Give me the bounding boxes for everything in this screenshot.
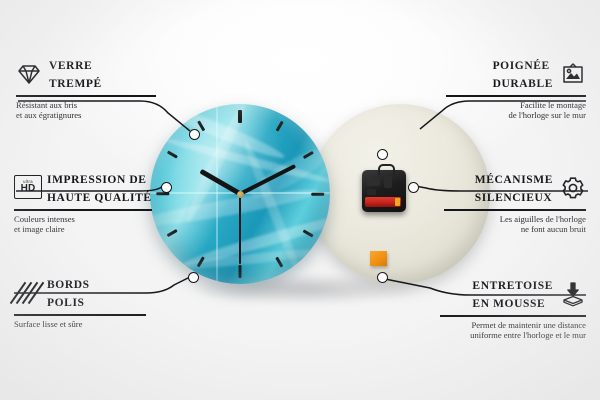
callout-header: VERRE TREMPÉ	[16, 56, 156, 92]
callout-description: Couleurs intenses et image claire	[14, 214, 152, 235]
battery-terminal	[395, 198, 400, 206]
callout-title: BORDS POLIS	[47, 275, 90, 311]
clock-tick	[161, 193, 240, 240]
leader-dot-poignee	[377, 149, 388, 160]
clock-tick	[194, 193, 241, 272]
callout-header: BORDS POLIS	[14, 275, 146, 311]
feather-pattern	[162, 135, 330, 186]
gear-icon	[560, 175, 586, 201]
foam-spacer	[370, 251, 387, 266]
mechanism-detail	[367, 178, 380, 186]
callout-title: MÉCANISME SILENCIEUX	[475, 170, 553, 206]
clock-tick	[239, 104, 242, 194]
callout-verre-trempe: VERRE TREMPÉ Résistant aux bris et aux é…	[16, 56, 156, 121]
callout-title: ENTRETOISE EN MOUSSE	[472, 276, 553, 312]
callout-description: Permet de maintenir une distance uniform…	[440, 320, 586, 341]
callout-description: Résistant aux bris et aux égratignures	[16, 100, 156, 121]
infographic-stage: VERRE TREMPÉ Résistant aux bris et aux é…	[0, 0, 600, 400]
mechanism-hanger-lug	[378, 164, 395, 175]
callout-description: Les aiguilles de l'horloge ne font aucun…	[444, 214, 586, 235]
clock-tick	[240, 193, 330, 196]
clock-tick	[239, 115, 286, 194]
leader-dot-impression	[161, 182, 172, 193]
clock-tick	[194, 115, 241, 194]
callout-description: Surface lisse et sûre	[14, 319, 146, 330]
feather-pattern	[170, 246, 330, 273]
clock-tick	[239, 193, 318, 240]
callout-header: POIGNÉE DURABLE	[446, 56, 586, 92]
glass-reflection-line	[216, 104, 218, 284]
callout-poignee-durable: POIGNÉE DURABLE Facilite le montage de l…	[446, 56, 586, 121]
clock-face	[150, 104, 330, 284]
battery	[365, 197, 401, 207]
callout-rule	[14, 314, 146, 316]
mechanism-detail	[384, 176, 392, 188]
second-hand	[239, 194, 241, 264]
callout-header: ENTRETOISE EN MOUSSE	[440, 276, 586, 312]
polished-edges-icon	[14, 280, 40, 306]
leader-dot-bords-polis	[188, 272, 199, 283]
foam-spacer-arrow-icon	[560, 281, 586, 307]
callout-description: Facilite le montage de l'horloge sur le …	[446, 100, 586, 121]
feather-pattern	[240, 138, 305, 281]
clock-tick	[239, 148, 318, 195]
callout-rule	[444, 209, 586, 211]
callout-title: VERRE TREMPÉ	[49, 56, 102, 92]
diamond-icon	[16, 61, 42, 87]
callout-rule	[440, 315, 586, 317]
leader-dot-mecanisme	[408, 182, 419, 193]
hour-hand	[199, 169, 241, 196]
ultra-hd-badge-icon: ultra HD	[14, 175, 40, 201]
feather-pattern	[150, 184, 320, 233]
callout-rule	[446, 95, 586, 97]
leader-dot-entretoise	[377, 272, 388, 283]
feather-pattern	[182, 210, 330, 270]
callout-title: IMPRESSION DE HAUTE QUALITÉ	[47, 170, 152, 206]
mechanism-detail	[367, 189, 376, 195]
clock-mechanism	[362, 170, 406, 212]
hd-badge-big-text: HD	[21, 184, 36, 194]
callout-impression-haute-qualite: ultra HD IMPRESSION DE HAUTE QUALITÉ Cou…	[14, 170, 152, 235]
callout-header: MÉCANISME SILENCIEUX	[444, 170, 586, 206]
feather-pattern	[150, 104, 287, 164]
clock-center-cap	[237, 191, 244, 198]
feather-pattern	[182, 104, 250, 224]
feather-pattern	[246, 141, 330, 205]
clock-tick	[239, 194, 242, 284]
minute-hand	[239, 164, 296, 196]
clock-tick	[161, 148, 240, 195]
callout-rule	[14, 209, 152, 211]
glass-reflection-line	[150, 192, 330, 194]
clock-tick	[150, 193, 240, 196]
callout-entretoise-en-mousse: ENTRETOISE EN MOUSSE Permet de maintenir…	[440, 276, 586, 341]
callout-header: ultra HD IMPRESSION DE HAUTE QUALITÉ	[14, 170, 152, 206]
clock-tick	[239, 193, 286, 272]
callout-title: POIGNÉE DURABLE	[493, 56, 553, 92]
callout-bords-polis: BORDS POLIS Surface lisse et sûre	[14, 275, 146, 329]
callout-mecanisme-silencieux: MÉCANISME SILENCIEUX Les aiguilles de l'…	[444, 170, 586, 235]
callout-rule	[16, 95, 156, 97]
leader-dot-verre-trempe	[189, 129, 200, 140]
picture-hanger-icon	[560, 61, 586, 87]
